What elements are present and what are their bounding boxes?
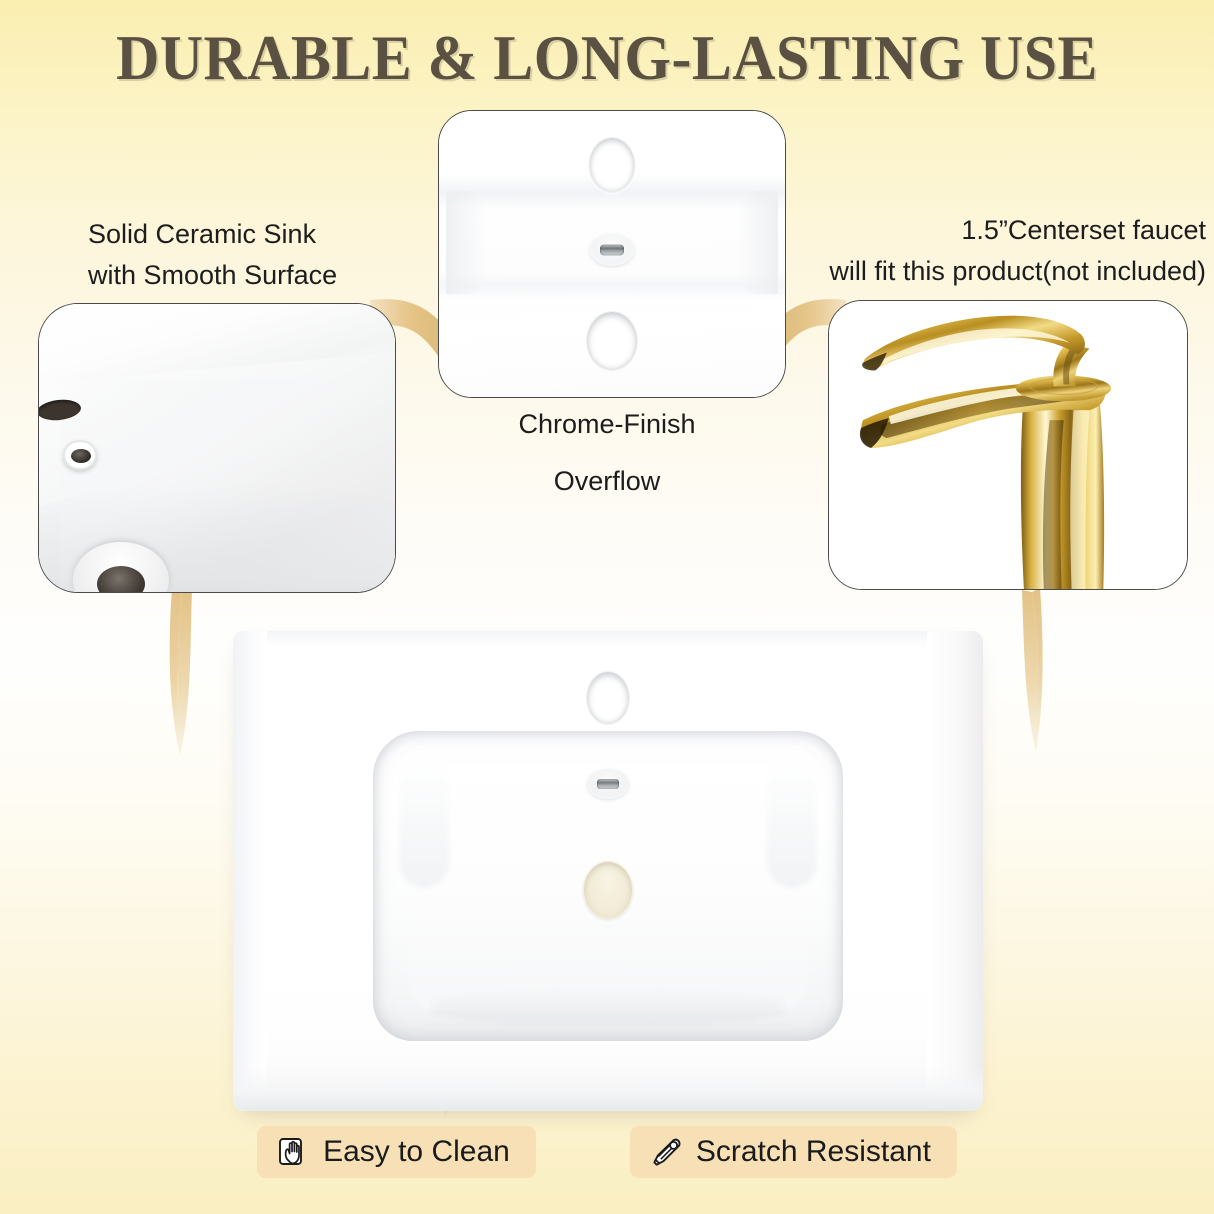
basin-highlight-left: [399, 757, 449, 887]
vanity-top-body: [233, 631, 983, 1111]
callout-panel-center: [438, 110, 786, 398]
infographic-stage: DURABLE & LONG-LASTING USE: [0, 0, 1214, 1214]
wiping-hand-icon: [277, 1135, 311, 1169]
callout-left-text: Solid Ceramic Sink with Smooth Surface: [88, 214, 337, 296]
callout-right-line2: will fit this product(not included): [829, 251, 1206, 292]
drain-hole: [586, 311, 638, 371]
main-product-image: [233, 631, 983, 1111]
ribbon-left-to-product-2: [177, 590, 192, 756]
badge-label: Scratch Resistant: [696, 1135, 931, 1169]
feature-badges: Easy to Clean Scratch Resistant: [0, 1126, 1214, 1178]
basin-highlight-right: [767, 757, 817, 887]
faucet-lever: [864, 316, 1085, 369]
gold-centerset-faucet-image: [829, 301, 1187, 589]
sink-top-overflow-detail-image: [439, 111, 785, 397]
basin-highlight-bottom: [433, 991, 783, 1025]
badge-scratch-resistant[interactable]: Scratch Resistant: [630, 1126, 957, 1178]
scraper-blade-icon: [650, 1135, 684, 1169]
callout-right-line1: 1.5”Centerset faucet: [829, 210, 1206, 251]
gold-faucet-illustration: [829, 301, 1187, 589]
callout-panel-right: [828, 300, 1188, 590]
product-chrome-overflow: [587, 769, 629, 799]
page-title: DURABLE & LONG-LASTING USE: [30, 22, 1183, 95]
vanity-bottom-edge: [233, 1067, 983, 1111]
badge-easy-to-clean[interactable]: Easy to Clean: [257, 1126, 536, 1178]
callout-right-text: 1.5”Centerset faucet will fit this produ…: [829, 210, 1206, 292]
callout-left-line2: with Smooth Surface: [88, 255, 337, 296]
sink-top-sheen-lower: [439, 271, 785, 300]
ceramic-sink-closeup-image: [39, 304, 395, 592]
vanity-left-edge: [233, 631, 267, 1111]
product-drain-hole: [583, 861, 633, 919]
sink-top-right-shade: [737, 191, 779, 294]
vanity-top-edge: [233, 631, 983, 661]
ribbon-right-to-product-2: [1022, 590, 1039, 752]
ribbon-left-to-product: [170, 588, 182, 756]
sink-top-left-shade: [446, 191, 488, 294]
ceramic-overflow-hole: [63, 440, 97, 470]
product-faucet-hole: [586, 671, 630, 725]
ribbon-right-to-product: [1032, 588, 1043, 752]
faucet-hole: [589, 137, 636, 193]
badge-label: Easy to Clean: [323, 1135, 510, 1169]
vanity-right-edge: [927, 631, 983, 1111]
callout-left-line1: Solid Ceramic Sink: [88, 214, 337, 255]
callout-panel-left: [38, 303, 396, 593]
chrome-overflow-slot: [590, 234, 634, 266]
